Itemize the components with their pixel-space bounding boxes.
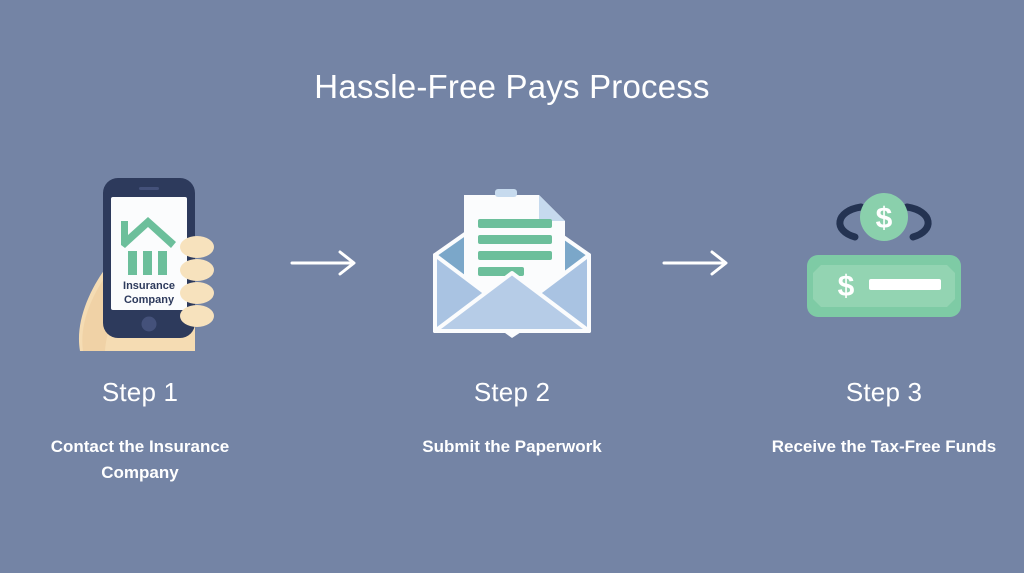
phone-logo-line-2: Company — [124, 294, 175, 306]
step-description-2: Submit the Paperwork — [387, 434, 637, 460]
steps-row: Insurance Company Step 1 Contact the Ins… — [0, 170, 1024, 530]
arrow-right-icon — [662, 249, 734, 277]
arrow-slot-2 — [652, 170, 744, 355]
coin-icon: $ — [860, 193, 908, 241]
infographic-canvas: Hassle-Free Pays Process — [0, 0, 1024, 573]
step-title-3: Step 3 — [846, 377, 922, 408]
arrow-slot-1 — [280, 170, 372, 355]
svg-text:$: $ — [838, 270, 855, 303]
step-card-3: $ $ Step 3 Receive the Tax-Free Funds — [744, 170, 1024, 460]
banknote-icon: $ — [807, 255, 961, 317]
step-description-3: Receive the Tax-Free Funds — [759, 434, 1009, 460]
step-card-2: Step 2 Submit the Paperwork — [372, 170, 652, 460]
step-description-1: Contact the Insurance Company — [15, 434, 265, 487]
arrow-right-icon — [290, 249, 362, 277]
banknote-coin-icon: $ $ — [784, 170, 984, 355]
step-title-2: Step 2 — [474, 377, 550, 408]
step-card-1: Insurance Company Step 1 Contact the Ins… — [0, 170, 280, 487]
page-title: Hassle-Free Pays Process — [0, 68, 1024, 106]
open-envelope-document-icon — [412, 170, 612, 355]
phone-logo-line-1: Insurance — [123, 280, 175, 292]
svg-text:$: $ — [876, 202, 893, 235]
step-title-1: Step 1 — [102, 377, 178, 408]
hand-holding-phone-icon: Insurance Company — [40, 170, 240, 355]
